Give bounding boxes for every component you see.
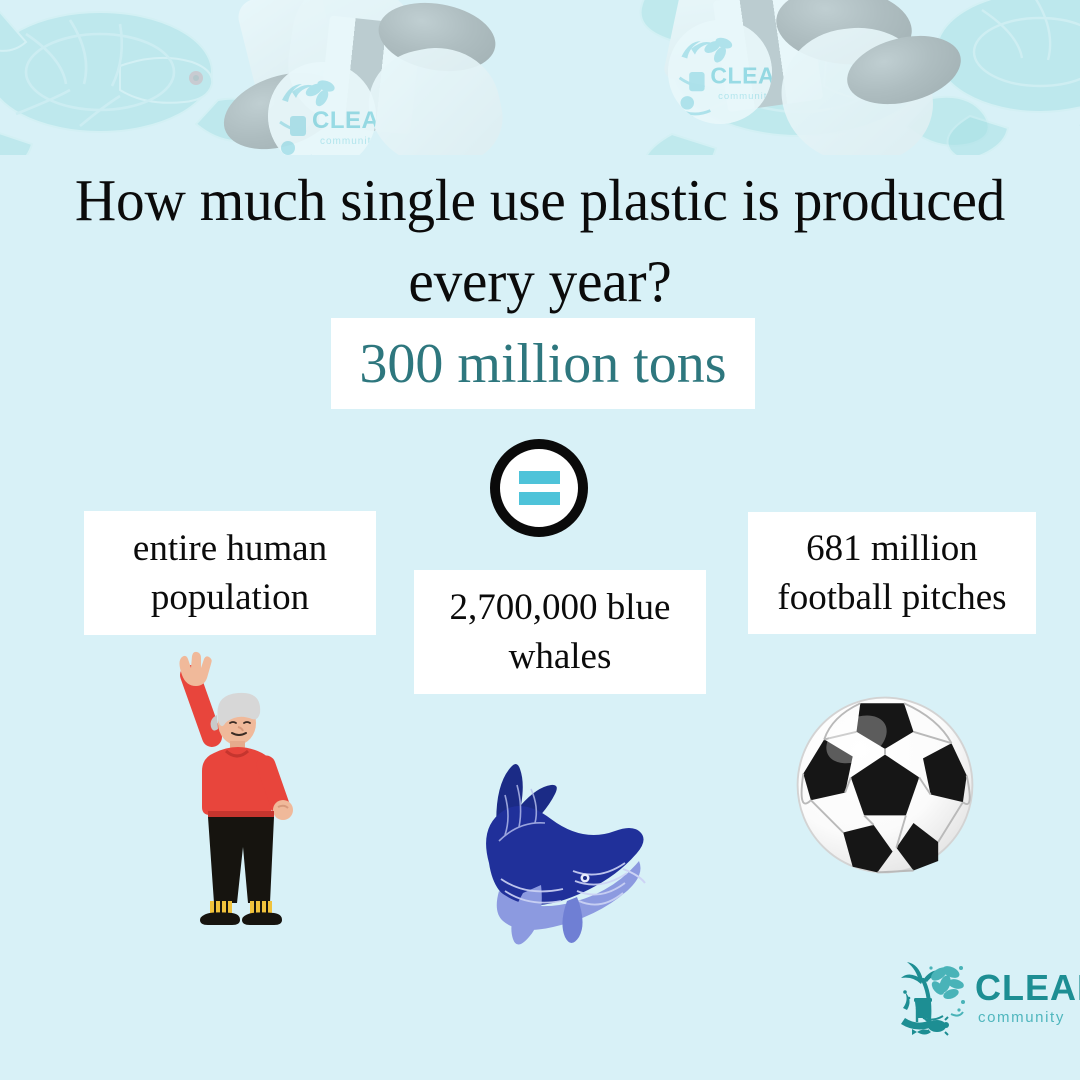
page-title-line-2: every year? bbox=[16, 241, 1064, 322]
comparison-label-line-1: entire human bbox=[133, 524, 327, 573]
svg-text:community: community bbox=[320, 136, 376, 147]
comparison-label-line-1: 681 million bbox=[777, 524, 1006, 573]
football-icon bbox=[790, 690, 980, 880]
blue-whale-icon bbox=[465, 745, 655, 945]
clear-community-emblem-icon bbox=[893, 958, 973, 1038]
equals-bar-bottom bbox=[519, 492, 560, 505]
comparison-label-line-2: whales bbox=[450, 632, 671, 681]
page-title-line-1: How much single use plastic is produced bbox=[16, 160, 1064, 241]
comparison-label-line-2: population bbox=[133, 573, 327, 622]
clear-logo-badge-watermark: CLEAR community bbox=[668, 20, 772, 124]
clear-community-logo[interactable]: CLEAR community bbox=[893, 950, 1068, 1045]
comparison-label-human-population: entire human population bbox=[84, 511, 376, 635]
comparison-label-line-1: 2,700,000 blue bbox=[450, 583, 671, 632]
svg-text:CLEAR: CLEAR bbox=[710, 63, 772, 89]
comparison-label-blue-whales: 2,700,000 blue whales bbox=[414, 570, 706, 694]
page-title: How much single use plastic is produced … bbox=[16, 160, 1064, 323]
standing-person-icon bbox=[168, 645, 308, 930]
headline-value-box: 300 million tons bbox=[331, 318, 755, 409]
svg-text:CLEAR: CLEAR bbox=[312, 107, 376, 134]
logo-tagline: community bbox=[978, 1010, 1065, 1025]
infographic-poster: CLEAR community CLEAR bbox=[0, 0, 1080, 1080]
logo-wordmark: CLEAR bbox=[975, 970, 1080, 1006]
comparison-label-line-2: football pitches bbox=[777, 573, 1006, 622]
equals-bar-top bbox=[519, 471, 560, 484]
headline-value-text: 300 million tons bbox=[359, 336, 726, 392]
top-banner: CLEAR community CLEAR bbox=[0, 0, 1080, 155]
comparison-label-football-pitches: 681 million football pitches bbox=[748, 512, 1036, 634]
equals-symbol-badge bbox=[490, 439, 588, 537]
